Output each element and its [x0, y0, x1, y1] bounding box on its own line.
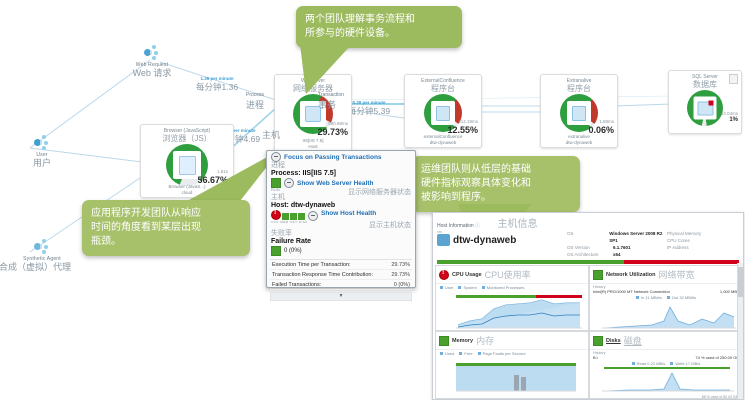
network-adapter-name: Intel(R) PRO/1000 MT Network Connection — [593, 289, 670, 294]
os-version-value: 6.1.7601 — [613, 244, 631, 251]
info-icon[interactable] — [284, 178, 294, 188]
popup-process-label: Process: IIS[IIS 7.5] — [267, 170, 415, 177]
panel-memory-title-row: Memory 内存 — [436, 332, 588, 350]
disks-chart — [590, 367, 740, 395]
panel-disks-title-row: Disks 磁盘 — [590, 332, 742, 350]
legend-user: User — [440, 285, 453, 290]
rate-webserver: 5.39 per minute 每分钟5.39 — [348, 100, 390, 117]
node-extconf-title-cn: 程序台 — [405, 84, 481, 93]
table-row: Transaction Response Time Contribution: … — [270, 270, 412, 280]
popup-failure-value-row: 0 (0%) — [267, 245, 415, 257]
node-extconf-sublabel-en: externalConfluence — [405, 134, 481, 140]
node-extconf-title-en: ExternalConfluence — [405, 75, 481, 84]
host-dashboard[interactable]: Host Information ⓘ 主机信息 vm dtw-dynaweb O… — [432, 212, 744, 400]
ip-address-key: IP Address — [667, 244, 713, 251]
legend-monitored-processes: Monitored Processes — [482, 285, 525, 290]
cpu-alert-icon — [439, 270, 449, 280]
table-row: Execution Time per Transaction: 29.73% — [270, 260, 412, 270]
collapse-icon[interactable] — [271, 152, 281, 162]
disk-usage-text: 74 % used of 250.00 GB — [695, 355, 739, 360]
dashboard-scrollbar[interactable] — [737, 263, 743, 399]
os-value: Windows Server 2008 R2 SP1 — [609, 230, 667, 244]
host-information-title: Host Information — [437, 223, 474, 229]
callout-top-tail — [300, 44, 360, 96]
node-extconf-sublabel-cn: dtw-dynaweb — [405, 140, 481, 146]
physical-memory-key: Physical Memory — [667, 230, 713, 237]
panel-cpu-title-row: CPU Usage CPU使用率 — [436, 266, 588, 284]
popup-web-server-health-cn: 显示网络服务器状态 — [348, 187, 411, 197]
rate-webserver-cn: 每分钟5.39 — [348, 105, 390, 117]
popup-focus-cn: 进程 — [267, 160, 415, 170]
sql-database-icon — [697, 101, 713, 115]
mem-chip — [282, 213, 289, 220]
node-webserver-sublabel-cn: Host — [275, 144, 351, 150]
node-webserver-sublabel-en: IIS[IIS 7.5] — [275, 138, 351, 144]
legend-out: Out 32 MBit/s — [667, 295, 696, 300]
cpu-cores-key: CPU Cores — [667, 237, 713, 244]
host-info-icon[interactable] — [308, 211, 318, 221]
popup-failure-rate-label: Failure Rate — [267, 238, 415, 245]
popup-show-web-server-health[interactable]: Show Web Server Health — [297, 180, 373, 187]
label-process: Process 进程 — [246, 92, 264, 111]
panel-disks-title: Disks — [606, 338, 621, 344]
row-label: Execution Time per Transaction: — [272, 262, 351, 268]
memory-status-chip — [439, 336, 449, 346]
os-key: OS — [567, 230, 609, 244]
popup-expand-button[interactable]: ▼ — [270, 292, 412, 301]
endpoint-user-label-cn: 用户 — [2, 158, 82, 169]
disk-footer-text: 88 % used of 80.00 GB — [590, 395, 742, 399]
node-extconf-ms: 414.19ms — [458, 119, 478, 124]
node-sql-donut — [687, 90, 723, 126]
panel-network-utilization[interactable]: Network Utilization 网络带宽 History Intel(R… — [589, 265, 743, 331]
label-host: 主机 — [262, 128, 280, 141]
panel-network-title-row: Network Utilization 网络带宽 — [590, 266, 742, 284]
panel-disks[interactable]: Disks 磁盘 History B:\ 74 % used of 250.00… — [589, 331, 743, 399]
legend-used: Used — [440, 351, 454, 356]
node-extranalive-ms: 1.88ms — [599, 119, 614, 124]
os-arch-value: x64 — [613, 251, 621, 258]
service-icon — [572, 106, 586, 121]
label-transaction-cn: 事务 — [318, 98, 344, 111]
host-timeline-bar — [437, 260, 739, 264]
diagram-canvas: User 用户 Synthetic Agent 合成（虚拟）代理 Web Req… — [0, 0, 745, 400]
legend-free: Free — [459, 351, 472, 356]
panel-memory-title-cn: 内存 — [476, 334, 494, 347]
endpoint-web-request[interactable]: Web Request Web 请求 — [112, 44, 192, 79]
disk-chip — [298, 213, 305, 220]
panel-disks-legend: Read 0.22 MB/s Write 17 MB/s — [590, 360, 742, 367]
physical-memory-row: Physical Memory — [667, 230, 737, 237]
host-avatar-icon — [437, 234, 450, 246]
host-information-header: Host Information ⓘ 主机信息 — [433, 213, 743, 230]
user-icon — [31, 134, 53, 152]
callout-left: 应用程序开发团队从响应 时间的角度看到某层出现 瓶颈。 — [82, 200, 250, 256]
row-value: 29.73% — [391, 262, 410, 268]
disks-status-chip — [593, 336, 603, 346]
os-version-key: OS Version — [567, 244, 613, 251]
cpu-alert-icon — [271, 210, 281, 220]
row-label: Failed Transactions: — [272, 282, 321, 288]
legend-in: In 11 MBit/s — [636, 295, 662, 300]
os-row: OS Windows Server 2008 R2 SP1 — [567, 230, 667, 244]
host-info-help-icon[interactable]: ⓘ — [475, 223, 480, 229]
popup-show-host-health[interactable]: Show Host Health — [321, 210, 376, 217]
panel-cpu-legend: User System Monitored Processes — [436, 284, 588, 291]
label-host-cn: 主机 — [262, 128, 280, 141]
os-arch-key: OS Architecture — [567, 251, 613, 258]
panel-network-title: Network Utilization — [606, 272, 656, 278]
network-utilization-chart — [590, 301, 740, 331]
cpu-usage-chart — [436, 291, 586, 331]
node-webserver-pct: 29.73% — [317, 127, 348, 137]
synthetic-agent-icon — [31, 238, 53, 256]
transaction-popup[interactable]: Focus on Passing Transactions 进程 Process… — [266, 150, 416, 288]
host-metric-chips — [271, 210, 305, 220]
popup-failure-value: 0 (0%) — [284, 248, 302, 254]
popup-focus-title[interactable]: Focus on Passing Transactions — [284, 154, 382, 161]
table-row: Failed Transactions: 0 (0%) — [270, 280, 412, 290]
node-extranalive-title-cn: 程序台 — [541, 84, 617, 93]
panel-memory[interactable]: Memory 内存 Used Free Page Faults per Seco… — [435, 331, 589, 399]
net-chip — [290, 213, 297, 220]
legend-system: System — [458, 285, 476, 290]
legend-read: Read 0.22 MB/s — [632, 361, 666, 366]
node-sql-ms: 33.04ms — [721, 111, 738, 116]
node-sql-server[interactable]: SQL Server 数据库 33.04ms 1% — [668, 70, 742, 134]
row-label: Transaction Response Time Contribution: — [272, 272, 373, 278]
panel-cpu-title: CPU Usage — [452, 272, 482, 278]
service-icon — [436, 106, 450, 121]
endpoint-synthetic-agent[interactable]: Synthetic Agent 合成（虚拟）代理 — [2, 238, 82, 273]
memory-chart — [436, 357, 586, 399]
panel-disks-title-cn: 磁盘 — [624, 334, 642, 347]
os-arch-row: OS Architecture x64 — [567, 251, 667, 258]
row-value: 0 (0%) — [394, 282, 410, 288]
callout-top: 两个团队理解事务流程和 所参与的硬件设备。 — [296, 6, 462, 48]
node-webserver-ms: 980.88ms — [328, 121, 348, 126]
rate-web-request-cn: 每分钟1.36 — [196, 81, 238, 93]
host-information-cn: 主机信息 — [497, 219, 537, 230]
node-extranalive-title-en: Extranalive — [541, 75, 617, 84]
disk-drive-label: B:\ — [593, 355, 598, 360]
panel-cpu-title-cn: CPU使用率 — [485, 268, 531, 281]
node-external-confluence[interactable]: ExternalConfluence 程序台 414.19ms 12.55% e… — [404, 74, 482, 148]
panel-cpu-usage[interactable]: CPU Usage CPU使用率 User System Monitored P… — [435, 265, 589, 331]
popup-host-health-cn: 显示主机状态 — [369, 220, 411, 230]
os-version-row: OS Version 6.1.7601 — [567, 244, 667, 251]
legend-page-faults: Page Faults per Second — [478, 351, 526, 356]
web-request-icon — [141, 44, 163, 62]
hostname: dtw-dynaweb — [453, 235, 516, 246]
node-sql-menu-icon[interactable] — [729, 74, 738, 84]
node-sql-pct: 1% — [729, 117, 738, 123]
popup-metrics-table: Execution Time per Transaction: 29.73% T… — [270, 259, 412, 290]
rate-web-request: 1.36 per minute 每分钟1.36 — [196, 76, 238, 93]
network-status-chip — [593, 270, 603, 280]
panel-network-title-cn: 网络带宽 — [659, 268, 695, 281]
panel-memory-title: Memory — [452, 338, 473, 344]
node-extranalive-sublabel-cn: dtw-dynaweb — [541, 140, 617, 146]
node-browser-title-en: Browser (JavaScript) — [141, 125, 233, 134]
endpoint-webreq-label-cn: Web 请求 — [112, 68, 192, 79]
panel-network-legend: In 11 MBit/s Out 32 MBit/s — [590, 294, 742, 301]
endpoint-user[interactable]: User 用户 — [2, 134, 82, 169]
ip-address-row: IP Address — [667, 244, 737, 251]
popup-host-label: Host: dtw-dynaweb — [267, 202, 415, 209]
endpoint-agent-label-cn: 合成（虚拟）代理 — [0, 262, 82, 273]
panel-memory-legend: Used Free Page Faults per Second — [436, 350, 588, 357]
row-value: 29.73% — [391, 272, 410, 278]
node-browser-title-cn: 浏览器（JS） — [141, 134, 233, 143]
label-process-cn: 进程 — [246, 98, 264, 111]
node-extranalive[interactable]: Extranalive 程序台 1.88ms 0.06% extranalive… — [540, 74, 618, 148]
node-extranalive-sublabel-en: extranalive — [541, 134, 617, 140]
cpu-cores-row: CPU Cores — [667, 237, 737, 244]
failure-status-chip — [271, 246, 281, 256]
legend-write: Write 17 MB/s — [670, 361, 700, 366]
